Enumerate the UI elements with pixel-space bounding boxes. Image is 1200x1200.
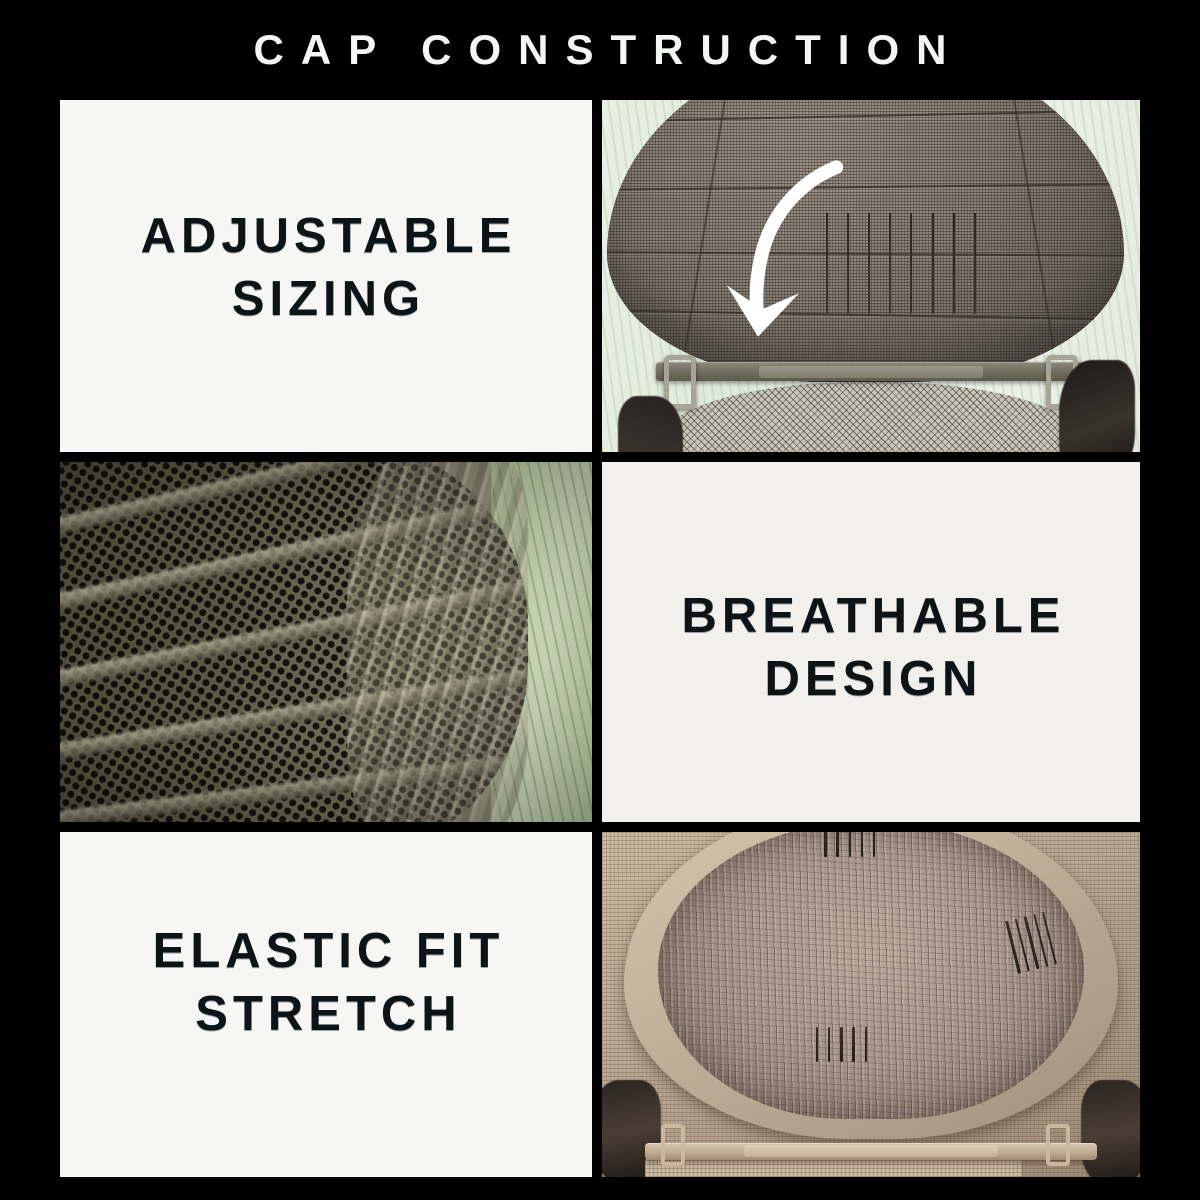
cap-rim [624,832,1119,1139]
feature-label-line2: SIZING [136,268,517,331]
feature-label-line1: ELASTIC FIT [148,920,505,983]
cap-cavity [658,832,1084,1119]
feature-label-elastic-fit-stretch: ELASTIC FIT STRETCH [148,920,505,1045]
strap-hook-left [661,1124,685,1166]
feature-label-line1: BREATHABLE [677,585,1066,648]
comb-bottom [816,1027,867,1063]
adjustable-strap-band [656,362,1086,381]
feature-label-line2: STRETCH [148,983,505,1046]
cap-interior-photo [602,832,1140,1177]
feature-label-breathable-design: BREATHABLE DESIGN [677,585,1066,710]
adjustable-strap-band [645,1143,1097,1160]
feature-label-line1: ADJUSTABLE [136,205,517,268]
cap-comb-teeth [819,213,995,314]
comb-top [824,832,879,857]
hair-strand-right [1059,360,1134,452]
weft-cross-texture [658,832,1084,1119]
strap-hook-right [1046,1124,1070,1166]
feature-image-cap-back [602,100,1140,452]
feature-card-breathable-design: BREATHABLE DESIGN [602,462,1140,822]
photo-vignette [60,462,592,822]
hair-strand-right [1081,1080,1140,1177]
page-title: CAP CONSTRUCTION [237,29,964,71]
mesh-closeup-photo [60,462,592,822]
feature-card-adjustable-sizing: ADJUSTABLE SIZING [60,100,592,452]
feature-grid: ADJUSTABLE SIZING [60,100,1140,1183]
cap-construction-infographic: CAP CONSTRUCTION ADJUSTABLE SIZING [0,0,1200,1200]
cap-back-photo [602,100,1140,452]
feature-label-line2: DESIGN [677,648,1066,711]
feature-image-cap-interior [602,832,1140,1177]
cap-dome [607,100,1123,382]
feature-image-breathable-mesh [60,462,592,822]
header-bar: CAP CONSTRUCTION [0,0,1200,100]
feature-label-adjustable-sizing: ADJUSTABLE SIZING [136,205,517,330]
feature-card-elastic-fit-stretch: ELASTIC FIT STRETCH [60,832,592,1177]
